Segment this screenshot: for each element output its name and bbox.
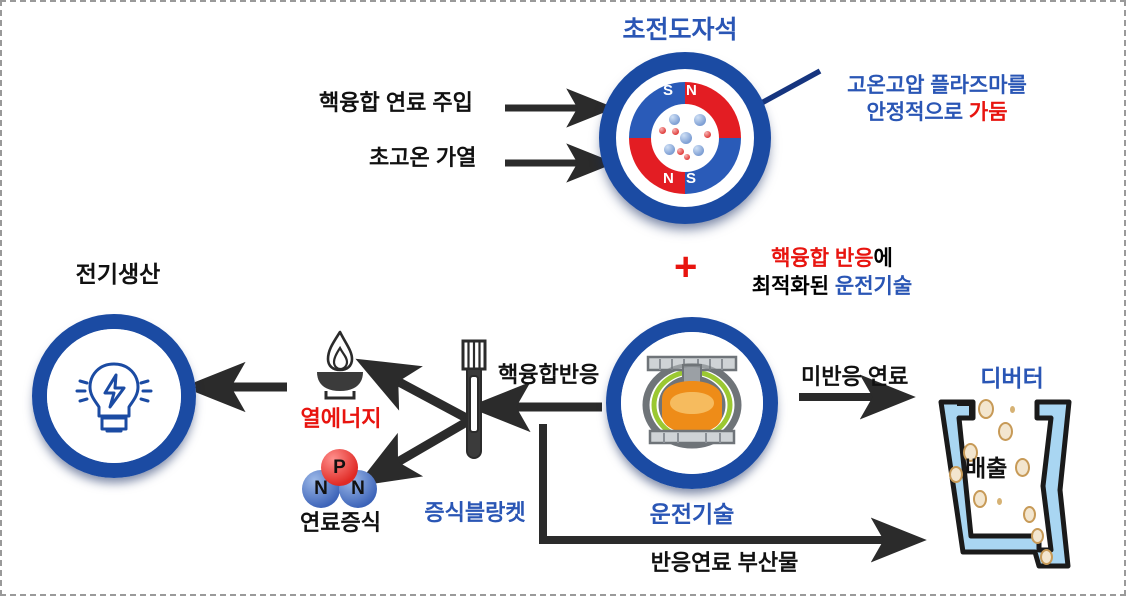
heat-energy-label: 열에너지 [295,406,387,433]
combiner-line1-highlight: 핵융합 반응 [771,247,873,270]
pole-label-top-left: S [663,82,673,99]
superconducting-magnet-icon: S N N S [599,52,771,224]
pole-label-bottom-right: S [686,170,696,187]
divertor-title: 디버터 [957,364,1067,392]
plasma-callout-line2-highlight: 가둠 [969,101,1008,124]
atom-proton: P [321,449,358,486]
combiner-text: 핵융합 반응에 최적화된 운전기술 [707,245,957,302]
byproduct-label: 반응연료 부산물 [607,550,842,577]
pole-label-top-right: N [686,82,697,99]
fusion-power-diagram: 초전도자석 S N N S 핵융합 연료 주입 초고온 가열 고온고압 플라즈마… [0,0,1126,596]
electricity-label: 전기생산 [38,260,198,288]
operation-technology-node [606,317,778,489]
tokamak-icon [640,353,744,453]
breeding-blanket-icon [451,339,497,471]
plasma-core [651,104,719,172]
operation-technology-label: 운전기술 [617,500,767,528]
lightbulb-bolt-icon [71,350,157,442]
breeding-blanket-label: 증식블랑켓 [414,500,536,527]
plasma-callout: 고온고압 플라즈마를 안정적으로 가둠 [817,72,1057,127]
plus-icon: + [674,247,697,287]
fusion-reaction-label: 핵융합반응 [498,362,599,389]
plasma-callout-line2-prefix: 안정적으로 [866,101,968,124]
magnet-title: 초전도자석 [595,15,765,46]
label-super-heating: 초고온 가열 [369,145,476,172]
flame-brazier-icon [299,329,381,401]
label-fuel-injection: 핵융합 연료 주입 [319,90,473,117]
electricity-production-node [32,314,196,478]
divertor-inner-label: 배출 [965,454,1007,482]
divertor-icon: 배출 [927,394,1077,574]
combiner-line2-highlight: 운전기술 [835,275,912,298]
combiner-line1-suffix: 에 [874,247,893,270]
unreacted-fuel-label: 미반응 연료 [801,364,908,391]
pole-label-bottom-left: N [663,170,674,187]
fuel-breeding-label: 연료증식 [293,510,388,537]
combiner-line2-prefix: 최적화된 [752,275,835,298]
divertor-shape [927,394,1077,574]
plasma-callout-line1: 고온고압 플라즈마를 [817,72,1057,99]
